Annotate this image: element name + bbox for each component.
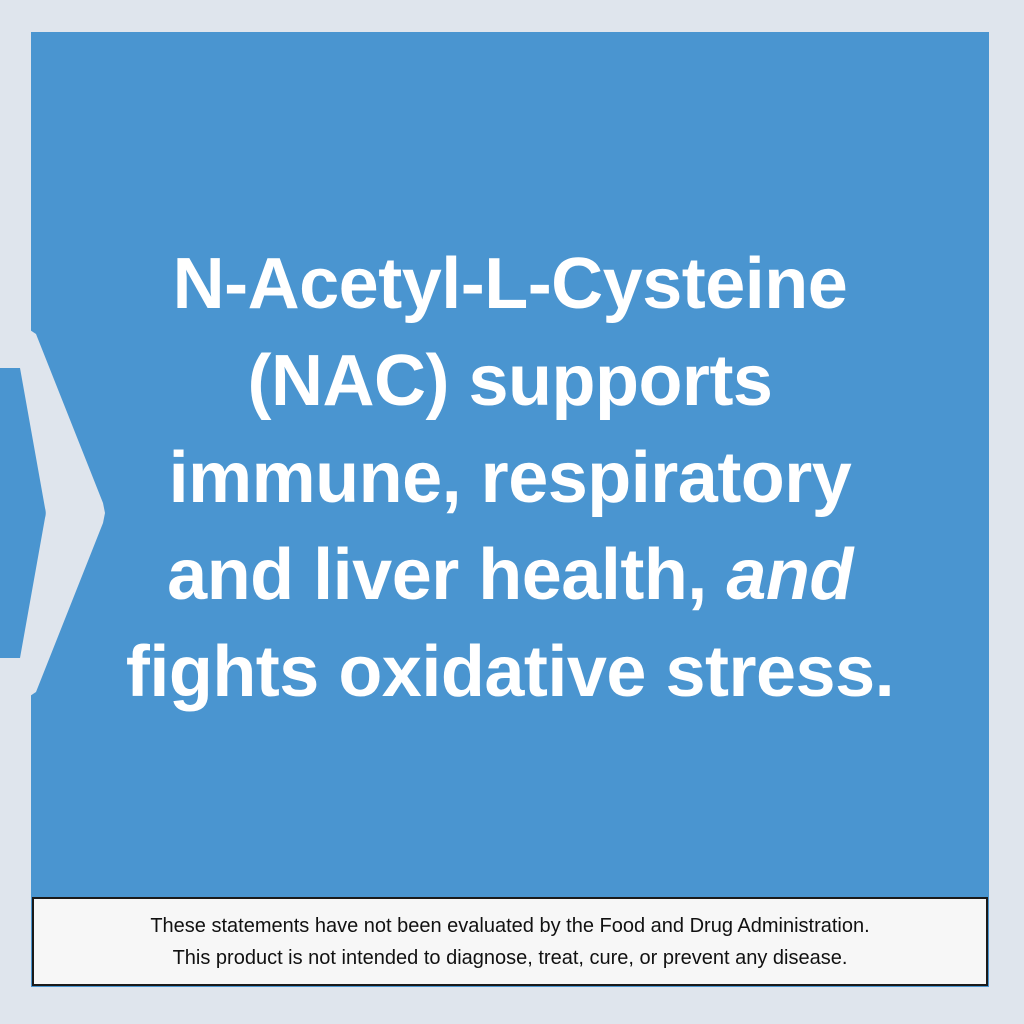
headline-line-1: N-Acetyl-L-Cysteine bbox=[31, 236, 989, 333]
headline-line-4: and liver health, and bbox=[31, 527, 989, 624]
headline-line-4-emphasis: and bbox=[726, 535, 853, 615]
headline-line-3: immune, respiratory bbox=[31, 430, 989, 527]
headline-line-4-plain: and liver health, bbox=[167, 535, 726, 615]
fda-disclaimer-box: These statements have not been evaluated… bbox=[32, 897, 988, 986]
disclaimer-line-2: This product is not intended to diagnose… bbox=[173, 942, 848, 974]
promo-graphic-canvas: N-Acetyl-L-Cysteine (NAC) supports immun… bbox=[0, 0, 1024, 1024]
headline-text: N-Acetyl-L-Cysteine (NAC) supports immun… bbox=[31, 236, 989, 721]
headline-line-2: (NAC) supports bbox=[31, 333, 989, 430]
disclaimer-line-1: These statements have not been evaluated… bbox=[150, 910, 869, 942]
headline-line-5: fights oxidative stress. bbox=[31, 624, 989, 721]
